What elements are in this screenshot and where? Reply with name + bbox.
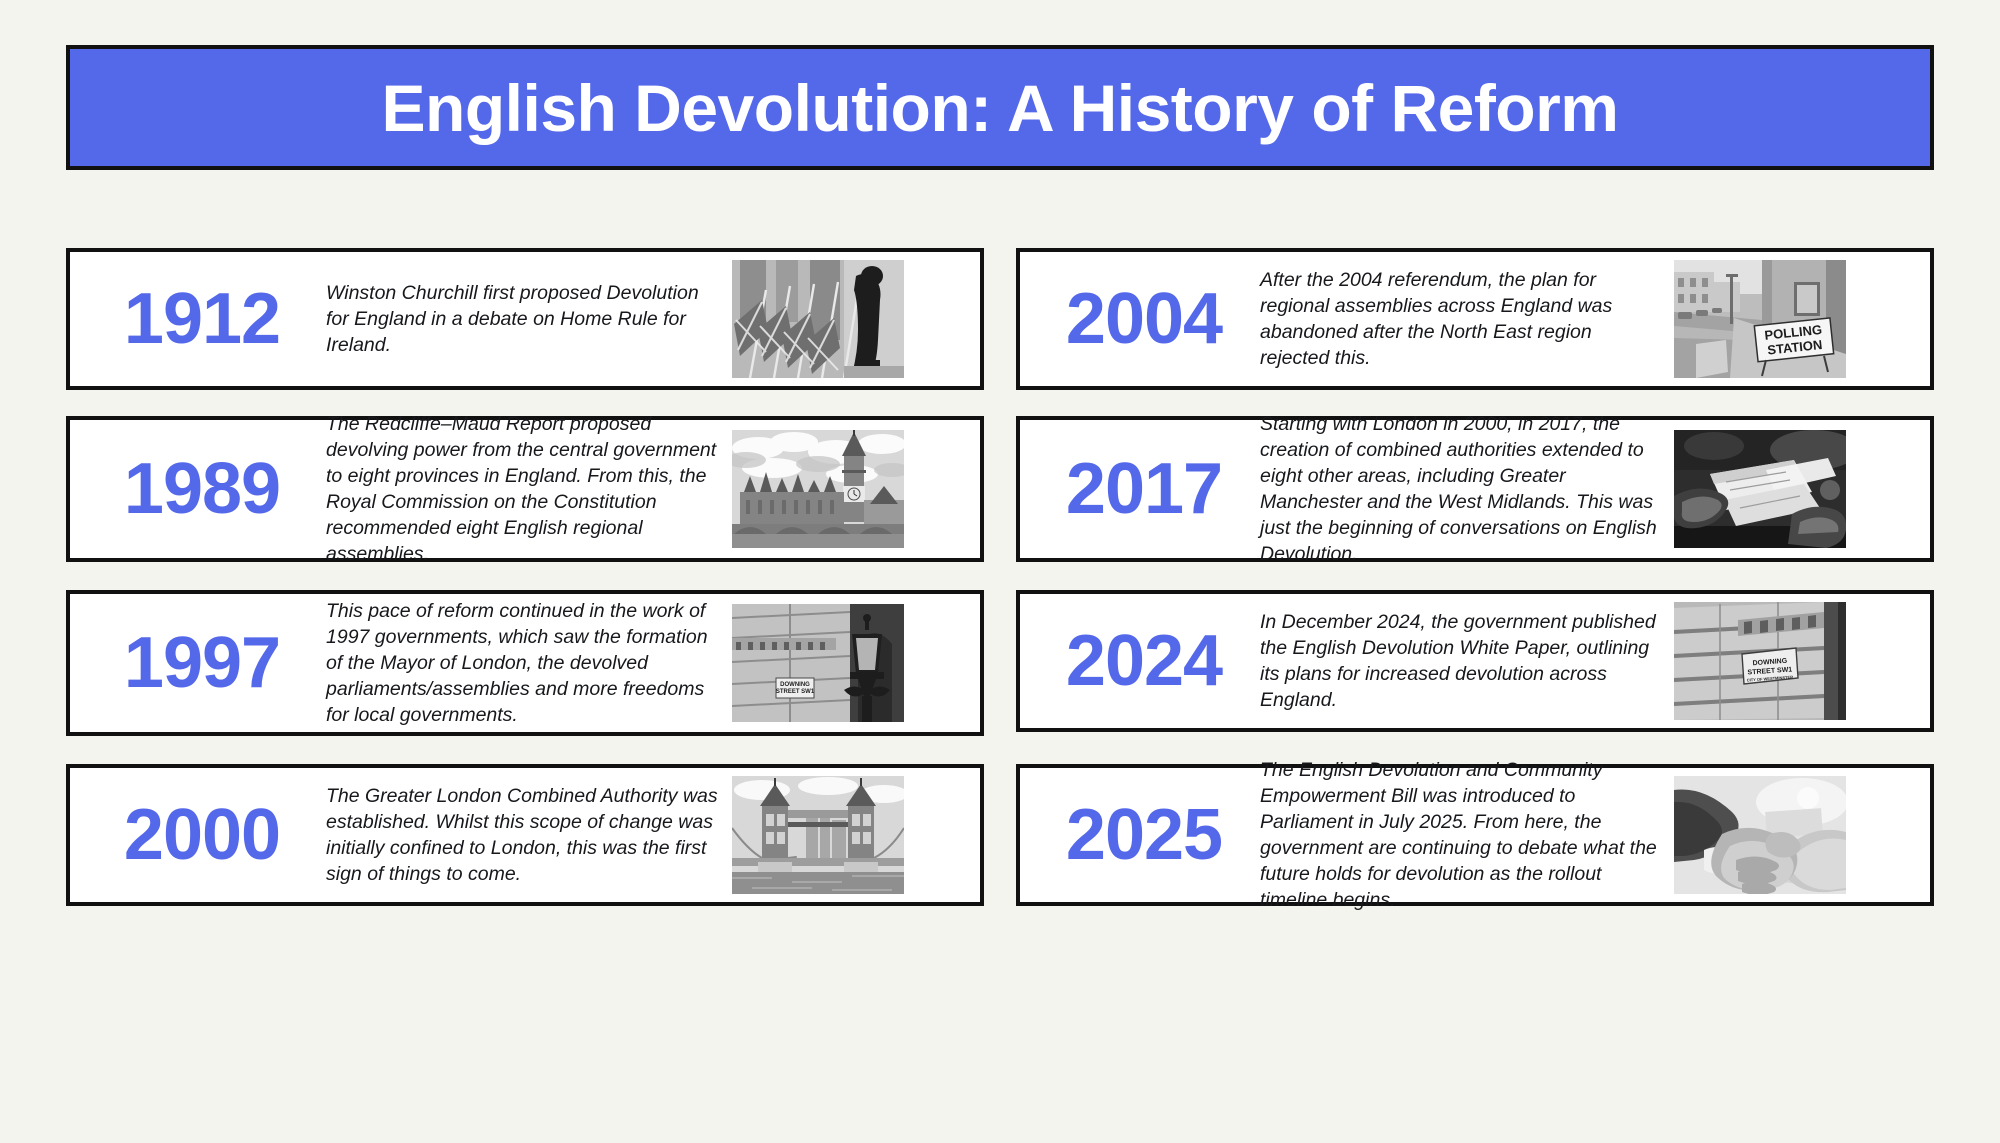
- timeline-year-2025: 2025: [1020, 799, 1260, 871]
- timeline-description-1997: This pace of reform continued in the wor…: [326, 598, 732, 729]
- timeline-description-1912: Winston Churchill first proposed Devolut…: [326, 280, 732, 358]
- churchill-statue-union-flags-photo: [732, 260, 904, 378]
- timeline-description-2017: Starting with London in 2000, in 2017, t…: [1260, 411, 1674, 568]
- timeline-card-1997[interactable]: 1997 This pace of reform continued in th…: [66, 590, 984, 736]
- svg-text:DOWNING: DOWNING: [780, 682, 810, 688]
- timeline-description-2004: After the 2004 referendum, the plan for …: [1260, 267, 1674, 372]
- infographic-page: English Devolution: A History of Reform …: [0, 0, 2000, 1143]
- svg-text:STREET SW1: STREET SW1: [776, 689, 815, 695]
- handshake-agreement-photo: [1674, 776, 1846, 894]
- timeline-card-1989[interactable]: 1989 The Redcliffe–Maud Report proposed …: [66, 416, 984, 562]
- timeline-description-2025: The English Devolution and Community Emp…: [1260, 757, 1674, 914]
- palace-of-westminster-big-ben-photo: [732, 430, 904, 548]
- downing-street-lamp-corner-photo: DOWNING STREET SW1: [732, 604, 904, 722]
- timeline-year-2004: 2004: [1020, 283, 1260, 355]
- page-title-banner: English Devolution: A History of Reform: [66, 45, 1934, 170]
- page-title: English Devolution: A History of Reform: [382, 75, 1619, 141]
- timeline-card-2000[interactable]: 2000 The Greater London Combined Authori…: [66, 764, 984, 906]
- timeline-year-2017: 2017: [1020, 453, 1260, 525]
- timeline-card-1912[interactable]: 1912 Winston Churchill first proposed De…: [66, 248, 984, 390]
- timeline-card-2025[interactable]: 2025 The English Devolution and Communit…: [1016, 764, 1934, 906]
- tower-bridge-photo: [732, 776, 904, 894]
- timeline-year-2024: 2024: [1020, 625, 1260, 697]
- ballot-papers-counting-photo: [1674, 430, 1846, 548]
- timeline-year-1912: 1912: [70, 283, 326, 355]
- timeline-description-2000: The Greater London Combined Authority wa…: [326, 783, 732, 888]
- timeline-card-2004[interactable]: 2004 After the 2004 referendum, the plan…: [1016, 248, 1934, 390]
- timeline-description-1989: The Redcliffe–Maud Report proposed devol…: [326, 411, 732, 568]
- timeline-description-2024: In December 2024, the government publish…: [1260, 609, 1674, 714]
- timeline-card-2024[interactable]: 2024 In December 2024, the government pu…: [1016, 590, 1934, 732]
- downing-street-wall-sign-photo: DOWNING STREET SW1 CITY OF WESTMINSTER: [1674, 602, 1846, 720]
- timeline-card-2017[interactable]: 2017 Starting with London in 2000, in 20…: [1016, 416, 1934, 562]
- timeline-year-1989: 1989: [70, 453, 326, 525]
- timeline-year-2000: 2000: [70, 799, 326, 871]
- polling-station-sign-street-photo: POLLING STATION: [1674, 260, 1846, 378]
- timeline-year-1997: 1997: [70, 627, 326, 699]
